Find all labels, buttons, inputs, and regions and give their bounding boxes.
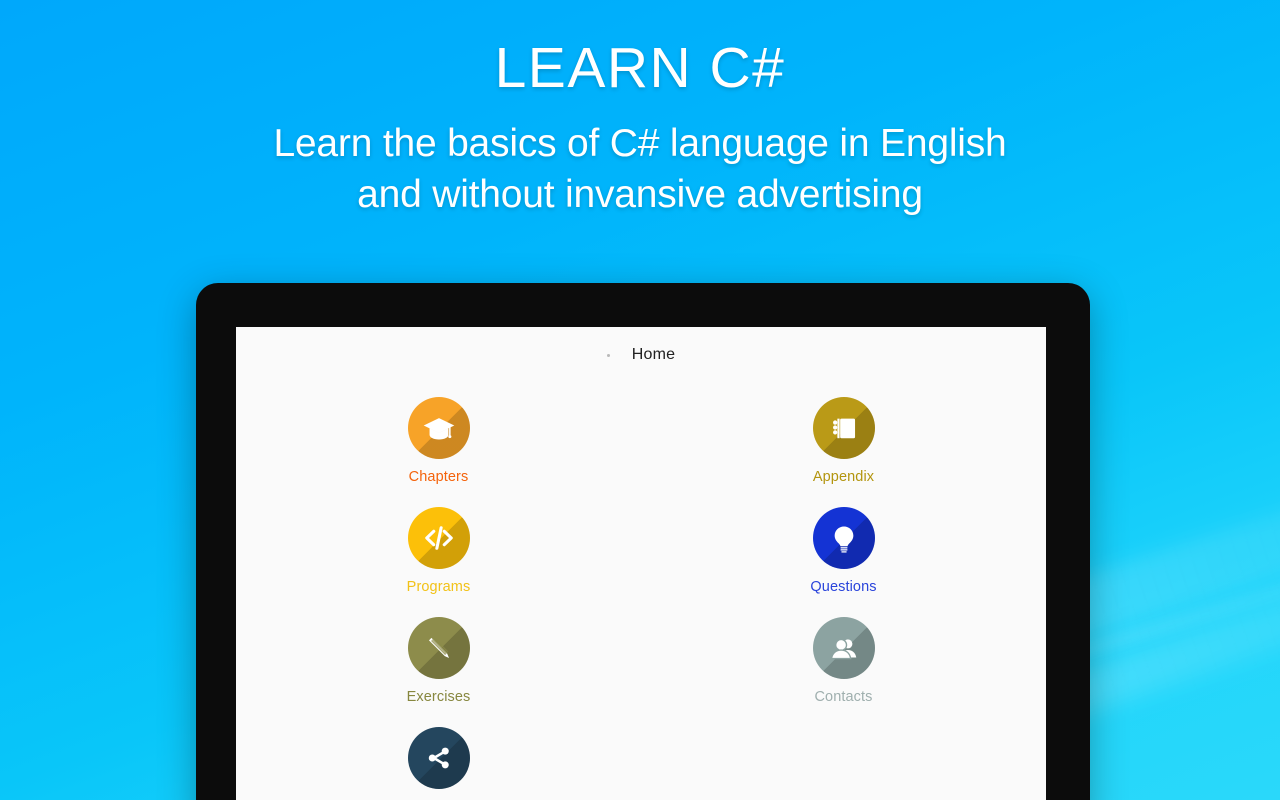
promo-screenshot: LEARN C# Learn the basics of C# language… — [0, 0, 1280, 800]
tablet-device-frame: Home ChaptersAppendixProgramsQuestionsEx… — [196, 283, 1090, 800]
app-tile-label: Questions — [810, 579, 876, 595]
app-tile-appendix[interactable]: Appendix — [641, 397, 1046, 507]
app-tile-questions[interactable]: Questions — [641, 507, 1046, 617]
app-tile-share[interactable] — [236, 727, 641, 800]
lightbulb-icon[interactable] — [813, 507, 875, 569]
app-tile-label: Chapters — [409, 469, 469, 485]
pencil-icon[interactable] — [408, 617, 470, 679]
app-tile-label: Appendix — [813, 469, 874, 485]
app-tile-programs[interactable]: Programs — [236, 507, 641, 617]
app-titlebar: Home — [236, 327, 1046, 383]
app-icon-grid: ChaptersAppendixProgramsQuestionsExercis… — [236, 383, 1046, 800]
app-tile-chapters[interactable]: Chapters — [236, 397, 641, 507]
people-icon[interactable] — [813, 617, 875, 679]
promo-title: LEARN C# — [0, 36, 1280, 100]
app-tile-contacts[interactable]: Contacts — [641, 617, 1046, 727]
page-title: Home — [632, 346, 675, 364]
app-tile-label: Exercises — [407, 689, 471, 705]
share-icon[interactable] — [408, 727, 470, 789]
tablet-screen: Home ChaptersAppendixProgramsQuestionsEx… — [236, 327, 1046, 800]
graduation-cap-icon[interactable] — [408, 397, 470, 459]
app-tile-label: Contacts — [814, 689, 872, 705]
titlebar-dot-icon — [607, 354, 610, 357]
app-tile-label: Programs — [407, 579, 471, 595]
code-brackets-icon[interactable] — [408, 507, 470, 569]
promo-subtitle: Learn the basics of C# language in Engli… — [0, 118, 1280, 220]
notebook-icon[interactable] — [813, 397, 875, 459]
app-tile-exercises[interactable]: Exercises — [236, 617, 641, 727]
